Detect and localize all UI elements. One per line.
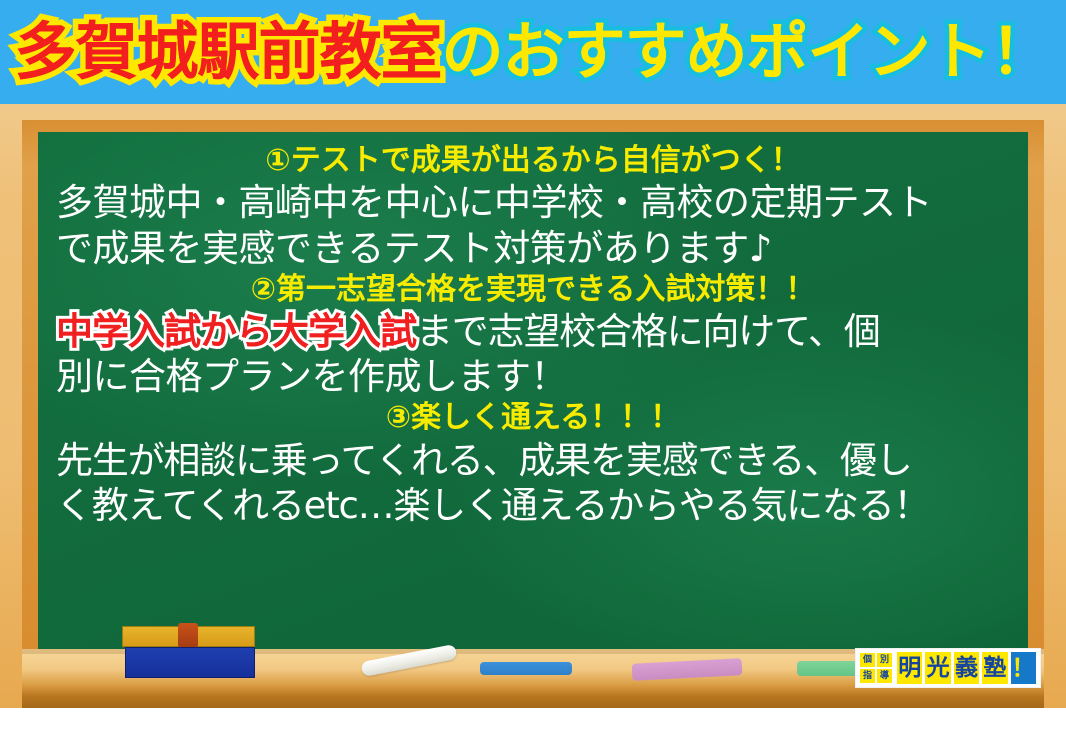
logo-subtitle-row-bottom: 指 導	[860, 669, 892, 683]
section-2-line-2: 別に合格プランを作成します！	[52, 354, 1014, 399]
section-2-after-emphasis: まで志望校合格に向けて、個	[416, 310, 880, 353]
poster-root: 多賀城駅前教室 多賀城駅前教室 のおすすめポイント！ のおすすめポイント！ ①テ…	[0, 0, 1066, 754]
logo-subtitle-grid: 個 別 指 導	[860, 653, 892, 683]
section-2-emphasis: 中学入試から大学入試	[56, 309, 416, 354]
banner-title-highlight: 多賀城駅前教室	[14, 21, 441, 83]
logo-mini-ko: 個	[860, 653, 875, 667]
banner-title-row: 多賀城駅前教室 多賀城駅前教室 のおすすめポイント！ のおすすめポイント！	[0, 0, 1066, 104]
blackboard-frame: ①テストで成果が出るから自信がつく！ 多賀城中・高崎中を中心に中学校・高校の定期…	[0, 104, 1066, 708]
logo-tile-kou: 光	[925, 652, 950, 684]
banner-title-highlight-wrap: 多賀城駅前教室 多賀城駅前教室	[14, 21, 441, 83]
section-1-line-1: 多賀城中・高崎中を中心に中学校・高校の定期テスト	[52, 180, 1014, 225]
section-2-emphasis-wrap: 中学入試から大学入試中学入試から大学入試	[56, 309, 416, 354]
section-3-line-2: く教えてくれるetc…楽しく通えるからやる気になる！	[52, 483, 1014, 528]
logo-tile-mei: 明	[897, 652, 922, 684]
header-banner: 多賀城駅前教室 多賀城駅前教室 のおすすめポイント！ のおすすめポイント！	[0, 0, 1066, 104]
pink-chalk-icon	[632, 658, 743, 681]
banner-title-rest-wrap: のおすすめポイント！ のおすすめポイント！	[442, 21, 1052, 83]
section-1-heading: ①テストで成果が出るから自信がつく！	[52, 142, 1014, 180]
section-2-heading: ②第一志望合格を実現できる入試対策！！	[52, 271, 1014, 309]
blackboard-surface: ①テストで成果が出るから自信がつく！ 多賀城中・高崎中を中心に中学校・高校の定期…	[38, 132, 1028, 652]
section-2-line-1: 中学入試から大学入試中学入試から大学入試まで志望校合格に向けて、個	[52, 309, 1014, 354]
logo-mini-betsu: 別	[877, 653, 892, 667]
blue-chalk-icon	[480, 662, 572, 675]
banner-title-rest: のおすすめポイント！	[442, 21, 1052, 83]
meikou-gijuku-logo: 個 別 指 導 明 光 義 塾 ！	[855, 648, 1041, 688]
logo-tile-juku: 塾	[982, 652, 1007, 684]
logo-tile-gi: 義	[954, 652, 979, 684]
section-3-heading: ③楽しく通える！！！	[52, 399, 1014, 437]
logo-exclamation-tile: ！	[1011, 652, 1036, 684]
logo-subtitle-row-top: 個 別	[860, 653, 892, 667]
blackboard-content: ①テストで成果が出るから自信がつく！ 多賀城中・高崎中を中心に中学校・高校の定期…	[38, 132, 1028, 528]
section-1-line-2: で成果を実感できるテスト対策があります♪	[52, 226, 1014, 271]
section-3-line-1: 先生が相談に乗ってくれる、成果を実感できる、優し	[52, 438, 1014, 483]
eraser-knob	[178, 623, 198, 648]
logo-mini-dou: 導	[877, 669, 892, 683]
blackboard-eraser-icon	[122, 626, 255, 678]
logo-mini-shi: 指	[860, 669, 875, 683]
eraser-felt	[125, 647, 255, 678]
